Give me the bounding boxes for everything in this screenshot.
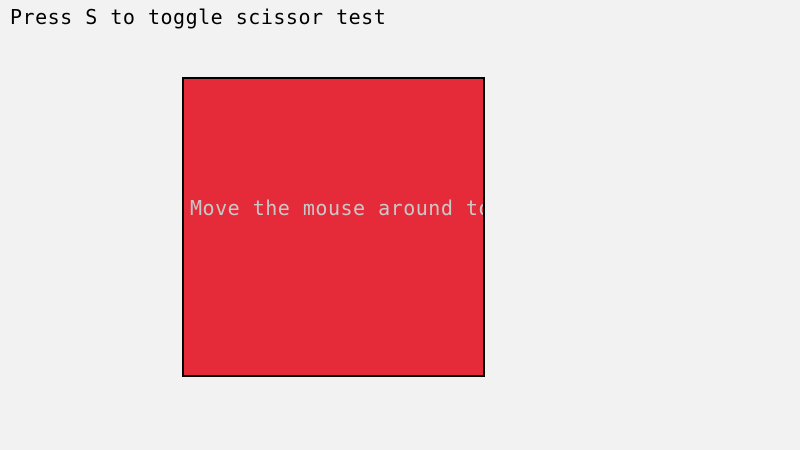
scissor-toggle-hint: Press S to toggle scissor test <box>10 7 386 27</box>
raylib-window: Press S to toggle scissor test Move the … <box>0 0 800 450</box>
scissor-rectangle[interactable]: Move the mouse around to reveal this tex… <box>182 77 485 377</box>
clipped-message-text: Move the mouse around to reveal this tex… <box>190 198 485 218</box>
